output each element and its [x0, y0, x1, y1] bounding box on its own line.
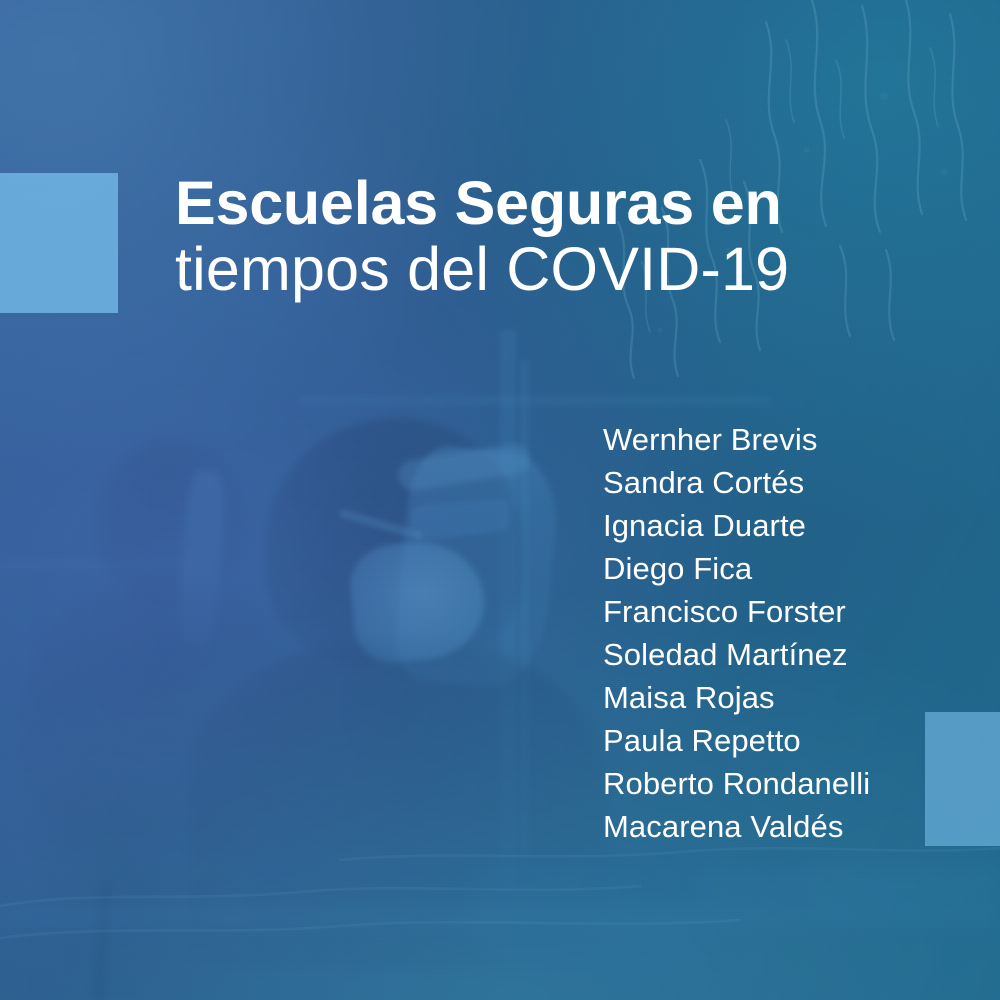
book-cover: Escuelas Seguras en tiempos del COVID-19… — [0, 0, 1000, 1000]
author-name: Soledad Martínez — [603, 633, 983, 676]
author-name: Macarena Valdés — [603, 805, 983, 848]
author-name: Sandra Cortés — [603, 461, 983, 504]
author-name: Francisco Forster — [603, 590, 983, 633]
cover-title-block: Escuelas Seguras en tiempos del COVID-19 — [175, 170, 875, 302]
cover-title-line-1: Escuelas Seguras en — [175, 170, 875, 236]
decorative-rectangle-left — [0, 173, 118, 313]
author-list: Wernher Brevis Sandra Cortés Ignacia Dua… — [603, 418, 983, 848]
author-name: Paula Repetto — [603, 719, 983, 762]
author-name: Wernher Brevis — [603, 418, 983, 461]
author-name: Roberto Rondanelli — [603, 762, 983, 805]
cover-title-line-2: tiempos del COVID-19 — [175, 236, 875, 302]
author-name: Diego Fica — [603, 547, 983, 590]
author-name: Maisa Rojas — [603, 676, 983, 719]
author-name: Ignacia Duarte — [603, 504, 983, 547]
